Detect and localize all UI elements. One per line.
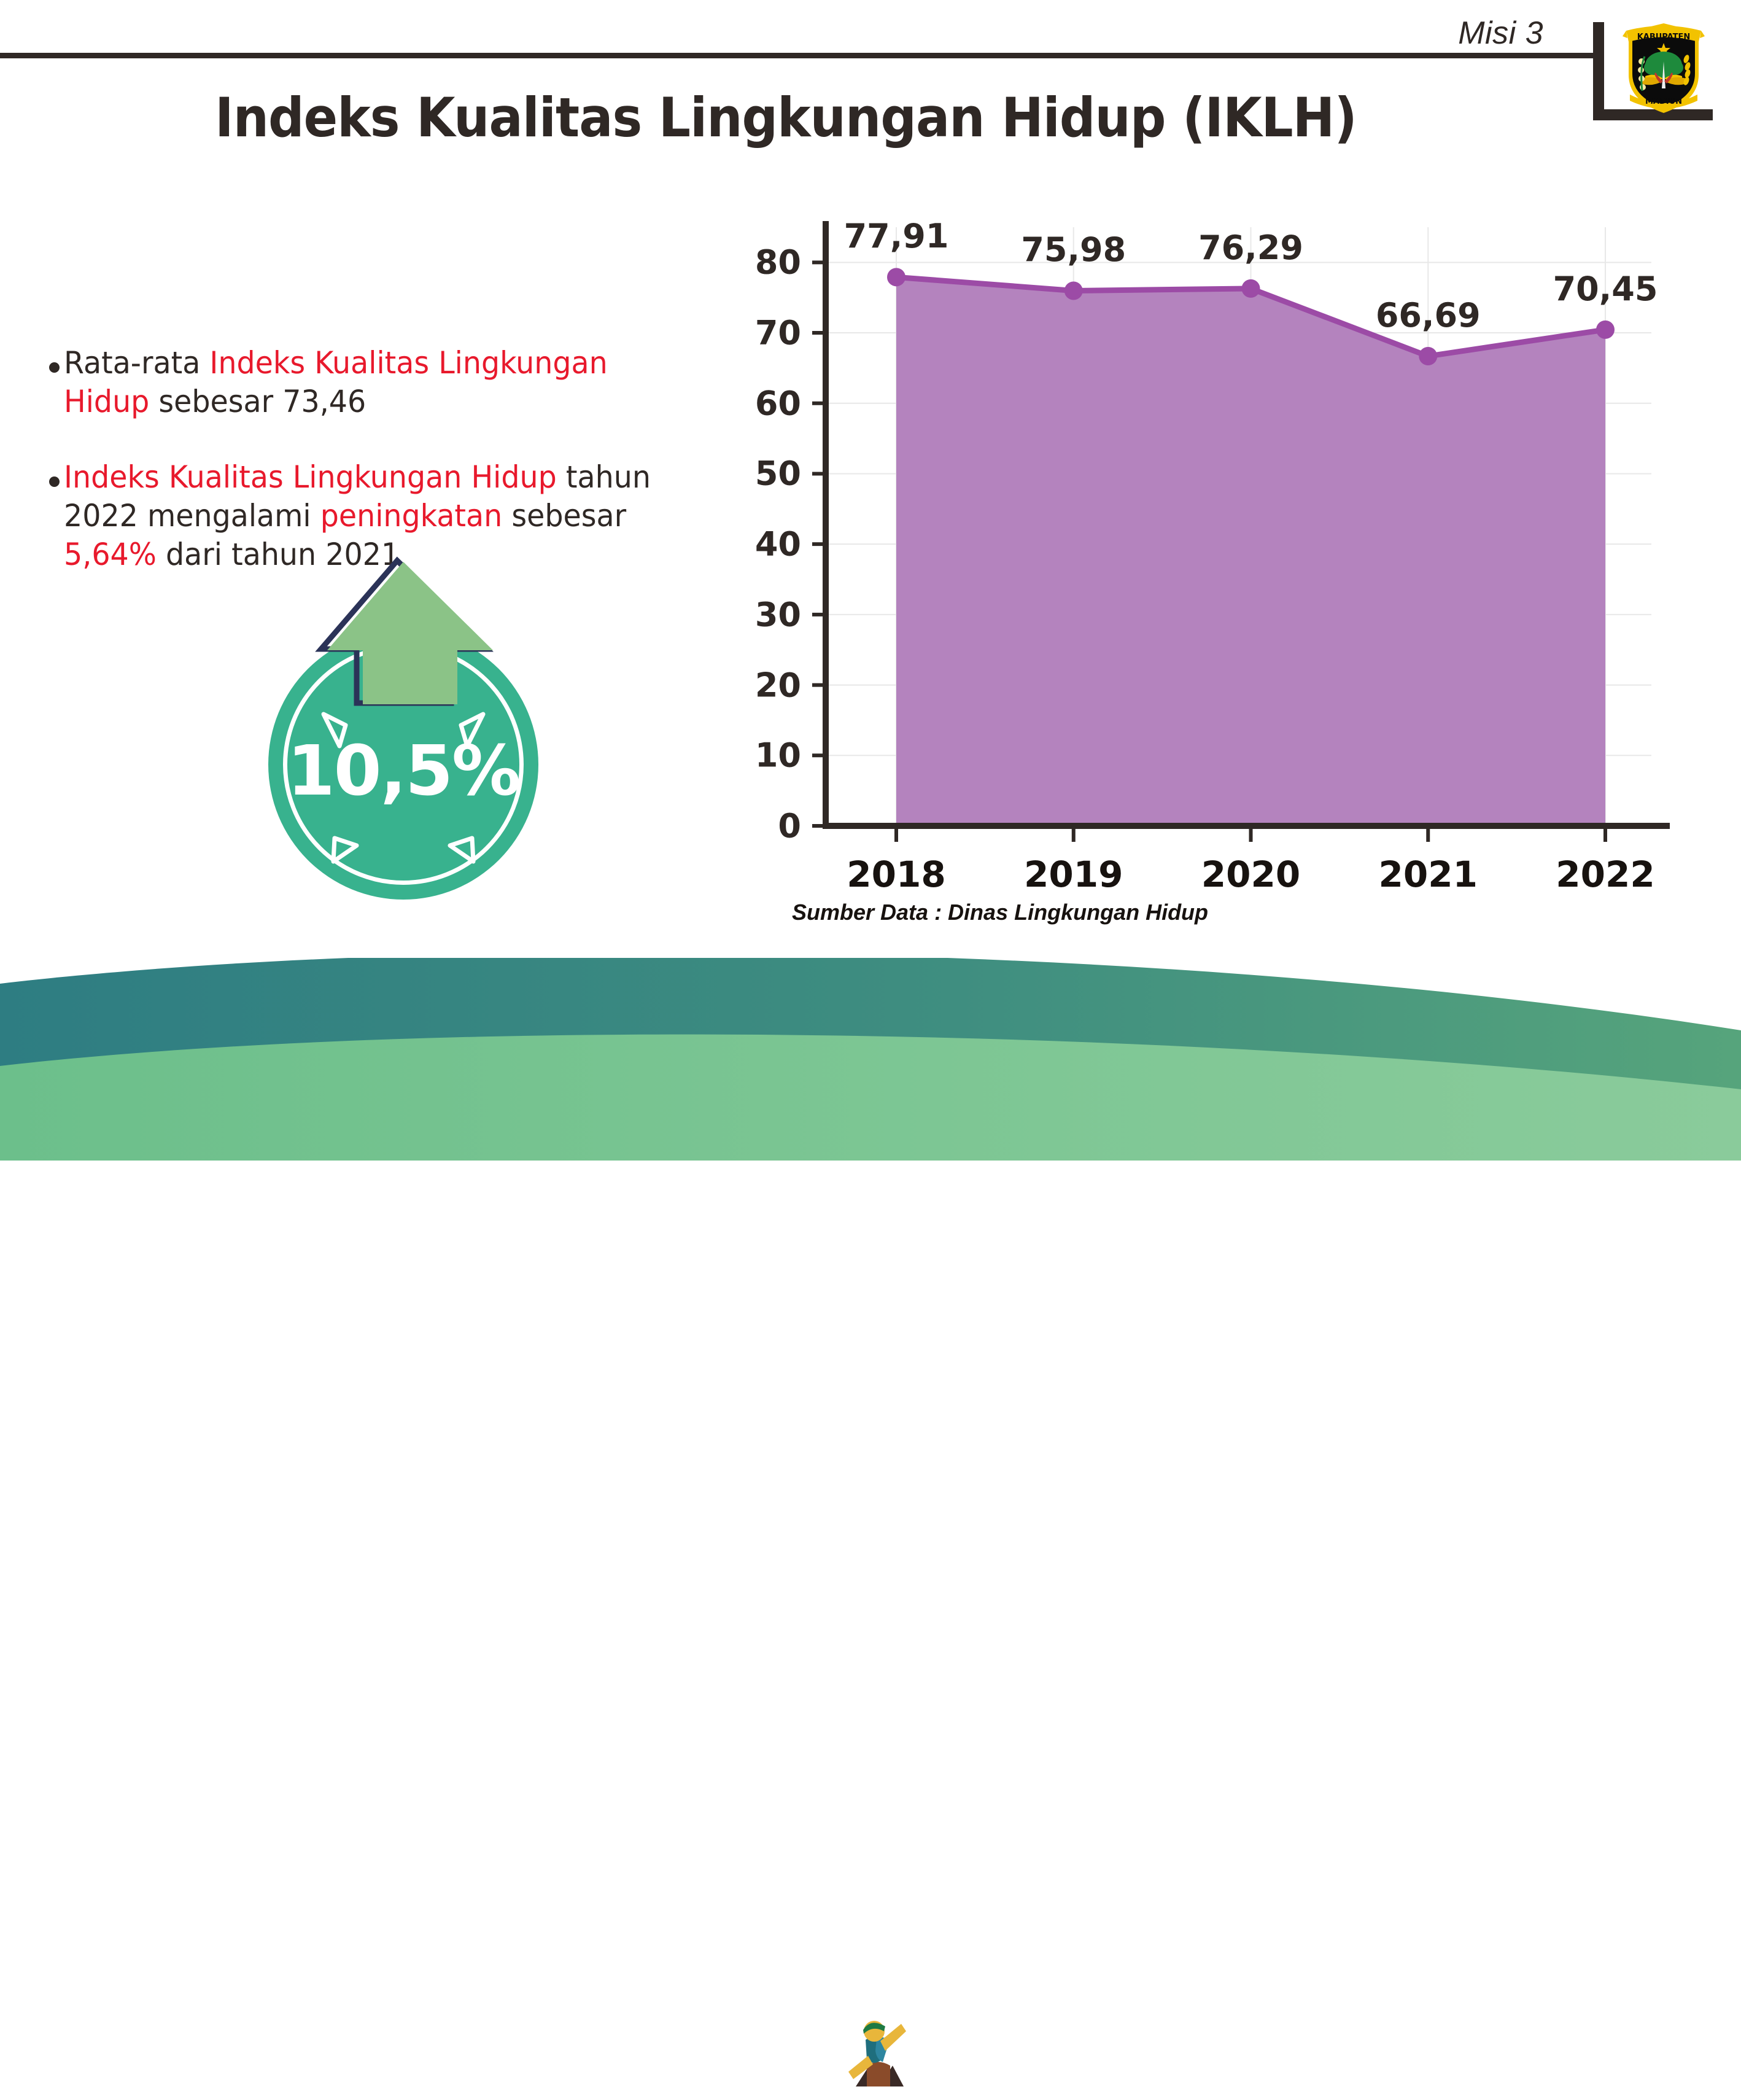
y-tick-label: 60 <box>727 384 801 422</box>
y-tick-label: 10 <box>727 736 801 775</box>
x-tick-label: 2020 <box>1171 854 1331 895</box>
data-point-label: 75,98 <box>994 230 1154 269</box>
bracket-vertical-bar <box>1593 22 1604 120</box>
data-point-label: 76,29 <box>1171 228 1331 267</box>
x-tick-label: 2022 <box>1526 854 1685 895</box>
bullet-dot-icon <box>49 362 60 373</box>
y-tick-label: 70 <box>727 314 801 352</box>
chart-canvas <box>718 203 1688 939</box>
plain-text: Rata-rata <box>64 345 209 381</box>
media-infografis-logo-icon <box>842 2013 911 2100</box>
data-point-label: 66,69 <box>1348 296 1508 335</box>
logo-bracket: KABUPATEN MADIUN <box>1593 22 1713 120</box>
y-tick-label: 80 <box>727 243 801 282</box>
svg-text:KABUPATEN: KABUPATEN <box>1637 33 1691 42</box>
page-title: Indeks Kualitas Lingkungan Hidup (IKLH) <box>55 86 1517 149</box>
y-tick-label: 20 <box>727 666 801 704</box>
plain-text: sebesar <box>502 498 626 534</box>
y-tick-label: 30 <box>727 595 801 634</box>
x-tick-label: 2019 <box>994 854 1154 895</box>
footer-waves <box>0 958 1741 1161</box>
iklh-area-chart: 01020304050607080 20182019202020212022 7… <box>718 203 1688 939</box>
footer: Media Infografis Data Statistik Sektoral… <box>0 958 1741 1161</box>
data-point-label: 77,91 <box>816 217 976 255</box>
highlight-text: Indeks Kualitas Lingkungan Hidup <box>64 459 557 495</box>
kabupaten-madiun-crest-icon: KABUPATEN MADIUN <box>1618 9 1710 116</box>
svg-text:MADIUN: MADIUN <box>1645 97 1682 106</box>
data-point-label: 70,45 <box>1526 270 1685 308</box>
area-fill <box>896 277 1605 826</box>
chart-source-note: Sumber Data : Dinas Lingkungan Hidup <box>792 900 1208 925</box>
mission-label: Misi 3 <box>1458 15 1543 52</box>
footer-caption: Media Infografis Data Statistik Sektoral… <box>916 2044 1681 2077</box>
x-tick-label: 2018 <box>816 854 976 895</box>
highlight-text: 5,64% <box>64 537 157 572</box>
bullet-dot-icon <box>49 476 60 487</box>
y-tick-label: 40 <box>727 525 801 564</box>
badge-value: 10,5% <box>268 731 538 811</box>
highlight-text: peningkatan <box>320 498 503 534</box>
y-tick-label: 50 <box>727 454 801 493</box>
up-arrow-icon <box>242 556 562 900</box>
list-item: Rata-rata Indeks Kualitas Lingkungan Hid… <box>49 344 718 421</box>
y-tick-label: 0 <box>727 807 801 846</box>
bullet-text-1: Rata-rata Indeks Kualitas Lingkungan Hid… <box>64 344 686 421</box>
plain-text: sebesar 73,46 <box>149 384 366 419</box>
increase-badge: 10,5% <box>242 556 562 900</box>
header-divider-line <box>0 53 1599 58</box>
x-tick-label: 2021 <box>1348 854 1508 895</box>
